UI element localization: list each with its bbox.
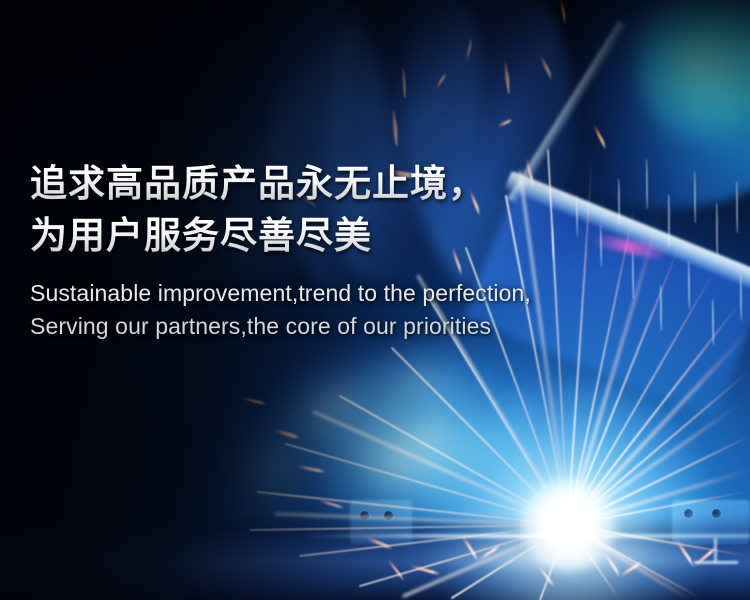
subheadline-english-line-2: Serving our partners,the core of our pri…: [30, 310, 720, 343]
welding-hero-banner: 追求高品质产品永无止境， 为用户服务尽善尽美 Sustainable impro…: [0, 0, 750, 600]
slogan-copy-block: 追求高品质产品永无止境， 为用户服务尽善尽美 Sustainable impro…: [30, 158, 720, 343]
headline-chinese-line-1: 追求高品质产品永无止境，: [30, 158, 720, 210]
subheadline-english-line-1: Sustainable improvement,trend to the per…: [30, 277, 720, 310]
headline-chinese-line-2: 为用户服务尽善尽美: [30, 210, 720, 262]
weld-arc-hotspot: [546, 504, 590, 546]
